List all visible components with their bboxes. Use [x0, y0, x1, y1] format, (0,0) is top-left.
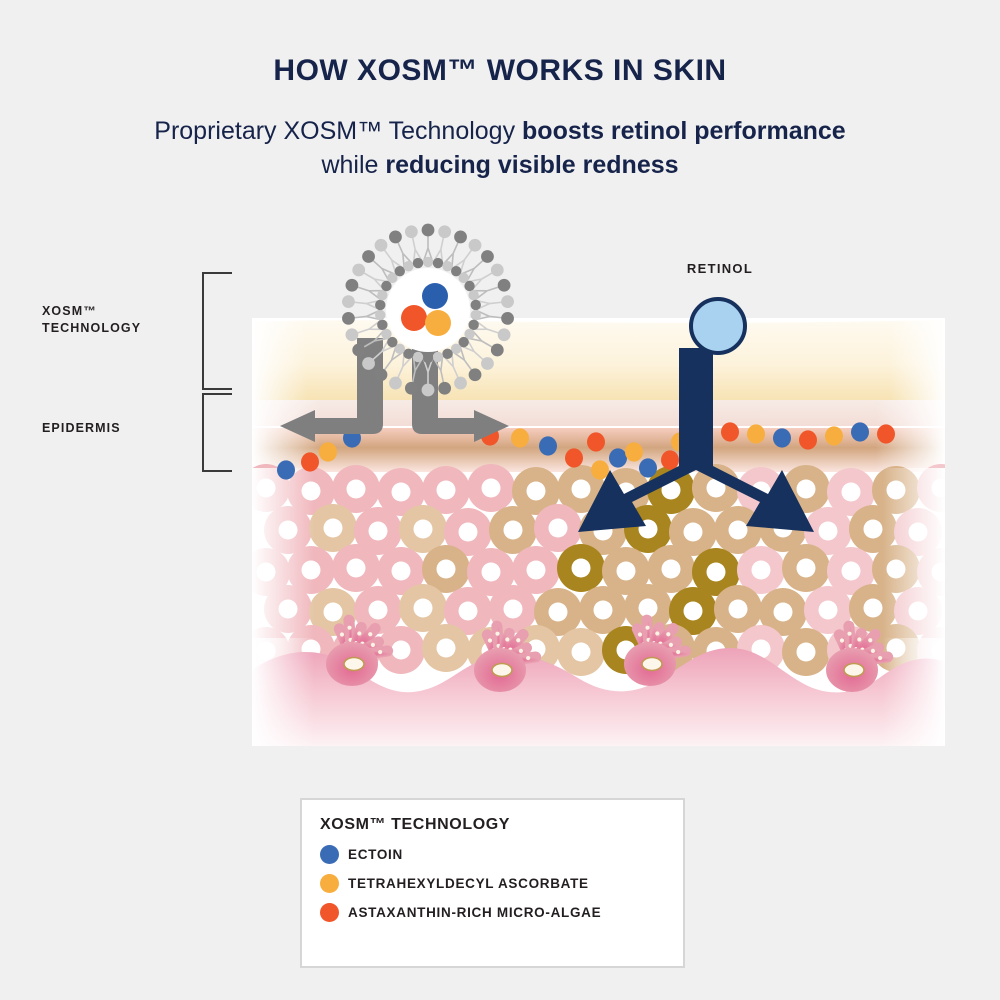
legend-item-label: ASTAXANTHIN-RICH MICRO-ALGAE: [348, 905, 601, 920]
melanosome-dot: [488, 638, 492, 642]
lipid-head-inner: [413, 352, 423, 362]
lipid-head-outer: [454, 231, 467, 244]
lipid-head-outer: [422, 224, 435, 237]
melanosome-dot: [495, 632, 499, 636]
page-title: HOW XOSM™ WORKS IN SKIN: [0, 54, 1000, 88]
lipid-head-inner: [403, 261, 413, 271]
legend-panel: XOSM™ TECHNOLOGY ECTOINTETRAHEXYLDECYL A…: [300, 798, 685, 968]
infographic-page: HOW XOSM™ WORKS IN SKIN Proprietary XOSM…: [0, 0, 1000, 1000]
melanosome-dot: [840, 638, 844, 642]
lipid-head-inner: [471, 300, 481, 310]
melanosome-dot: [847, 632, 851, 636]
label-xosm-technology-line2: TECHNOLOGY: [42, 320, 141, 337]
subtitle-segment-1: Proprietary XOSM™ Technology: [154, 117, 522, 145]
lipid-head-outer: [405, 382, 418, 395]
active-molecule: [319, 442, 337, 461]
active-molecule: [609, 448, 627, 467]
melanocyte-nucleus: [844, 664, 864, 677]
lipid-head-outer: [422, 384, 435, 397]
melanocyte-nucleus: [344, 658, 364, 671]
bracket-epidermis: [202, 393, 232, 472]
lipid-head-inner: [451, 344, 461, 354]
retinol-circle: [691, 299, 745, 353]
lipid-head-inner: [375, 310, 385, 320]
active-molecule: [591, 460, 609, 479]
lipid-head-outer: [389, 231, 402, 244]
retinol-molecule: [686, 294, 750, 358]
lipid-head-inner: [403, 349, 413, 359]
melanosome-dot: [676, 650, 680, 654]
active-molecule: [851, 422, 869, 441]
liposome-svg: [332, 222, 524, 398]
lipid-head-inner: [433, 352, 443, 362]
lipid-head-outer: [491, 264, 504, 277]
active-molecule: [587, 432, 605, 451]
lipid-head-inner: [433, 258, 443, 268]
lipid-head-outer: [501, 295, 514, 308]
legend-item: ECTOIN: [320, 845, 683, 864]
lipid-head-outer: [352, 264, 365, 277]
melanosome-dot: [357, 631, 361, 635]
lipid-head-inner: [442, 349, 452, 359]
melanosome-dot: [878, 656, 882, 660]
active-molecule: [747, 424, 765, 443]
legend-item: ASTAXANTHIN-RICH MICRO-ALGAE: [320, 903, 683, 922]
lipid-head-outer: [469, 239, 482, 252]
xosm-liposome: [332, 222, 524, 398]
lipid-head-outer: [346, 328, 359, 341]
melanosome-dot: [526, 656, 530, 660]
active-molecule: [277, 460, 295, 479]
melanosome-dot: [638, 632, 642, 636]
melanosome-dot: [516, 638, 520, 642]
legend-item-label: TETRAHEXYLDECYL ASCORBATE: [348, 876, 589, 891]
legend-color-swatch: [320, 874, 339, 893]
lipid-head-outer: [454, 377, 467, 390]
legend-title: XOSM™ TECHNOLOGY: [320, 816, 683, 834]
legend-item-label: ECTOIN: [348, 847, 403, 862]
lipid-head-inner: [375, 300, 385, 310]
lipid-head-inner: [423, 353, 433, 363]
melanosome-dot: [666, 632, 670, 636]
lipid-head-outer: [469, 368, 482, 381]
melanosome-dot: [340, 632, 344, 636]
core-dot-astaxanthin: [401, 305, 427, 331]
lipid-head-outer: [405, 225, 418, 238]
active-molecule: [565, 448, 583, 467]
melanosome-dot: [368, 632, 372, 636]
melanosome-dot: [371, 643, 375, 647]
lipid-head-inner: [471, 310, 481, 320]
lipid-head-inner: [442, 261, 452, 271]
lipid-head-outer: [346, 279, 359, 292]
active-molecule: [539, 436, 557, 455]
melanosome-dot: [655, 631, 659, 635]
legend-item: TETRAHEXYLDECYL ASCORBATE: [320, 874, 683, 893]
lipid-head-inner: [377, 320, 387, 330]
lipid-head-outer: [352, 344, 365, 357]
bracket-xosm-technology: [202, 272, 232, 390]
liposome-core: [386, 268, 470, 352]
page-subtitle: Proprietary XOSM™ Technology boosts reti…: [150, 114, 850, 182]
melanosome-dot: [857, 637, 861, 641]
active-molecule: [799, 430, 817, 449]
lipid-head-inner: [413, 258, 423, 268]
legend-rows: ECTOINTETRAHEXYLDECYL ASCORBATEASTAXANTH…: [320, 845, 683, 922]
lipid-head-outer: [498, 328, 511, 341]
lipid-head-inner: [395, 266, 405, 276]
lipid-head-inner: [464, 281, 474, 291]
lipid-head-outer: [389, 377, 402, 390]
lipid-head-inner: [423, 257, 433, 267]
legend-color-swatch: [320, 903, 339, 922]
active-molecule: [301, 452, 319, 471]
active-molecule: [773, 428, 791, 447]
subtitle-segment-bold-1: boosts retinol performance: [522, 117, 846, 145]
lipid-head-outer: [375, 239, 388, 252]
subtitle-segment-2: while: [321, 151, 385, 179]
lipid-head-outer: [481, 250, 494, 263]
label-xosm-technology-line1: XOSM™: [42, 303, 141, 320]
lipid-head-outer: [438, 225, 451, 238]
retinol-svg: [686, 294, 750, 358]
lipid-head-inner: [468, 320, 478, 330]
melanosome-dot: [505, 637, 509, 641]
melanosome-dot: [519, 649, 523, 653]
label-epidermis: EPIDERMIS: [42, 420, 121, 437]
melanocyte-nucleus: [642, 658, 662, 671]
lipid-head-outer: [438, 382, 451, 395]
active-molecule: [625, 442, 643, 461]
lipid-head-outer: [501, 312, 514, 325]
melanocyte-nucleus: [492, 664, 512, 677]
melanosome-dot: [871, 649, 875, 653]
lipid-head-inner: [377, 290, 387, 300]
active-molecule: [511, 428, 529, 447]
melanosome-dot: [669, 643, 673, 647]
melanosome-dot: [645, 626, 649, 630]
lipid-head-outer: [342, 295, 355, 308]
lipid-head-outer: [498, 279, 511, 292]
lipid-head-inner: [468, 290, 478, 300]
label-retinol: RETINOL: [620, 261, 820, 276]
lipid-head-outer: [491, 344, 504, 357]
active-molecule: [721, 422, 739, 441]
subtitle-segment-bold-2: reducing visible redness: [385, 151, 678, 179]
active-molecule: [877, 424, 895, 443]
lipid-head-outer: [362, 357, 375, 370]
lipid-head-outer: [362, 250, 375, 263]
core-dot-ectoin: [422, 283, 448, 309]
lipid-head-outer: [375, 368, 388, 381]
melanosome-dot: [347, 626, 351, 630]
lipid-head-inner: [381, 329, 391, 339]
lipid-head-outer: [342, 312, 355, 325]
active-molecule: [825, 426, 843, 445]
label-xosm-technology: XOSM™ TECHNOLOGY: [42, 303, 141, 337]
legend-color-swatch: [320, 845, 339, 864]
active-molecule: [661, 450, 679, 469]
core-dot-ascorbate: [425, 310, 451, 336]
melanosome-dot: [378, 650, 382, 654]
active-molecule: [639, 458, 657, 477]
lipid-head-outer: [481, 357, 494, 370]
melanosome-dot: [868, 638, 872, 642]
